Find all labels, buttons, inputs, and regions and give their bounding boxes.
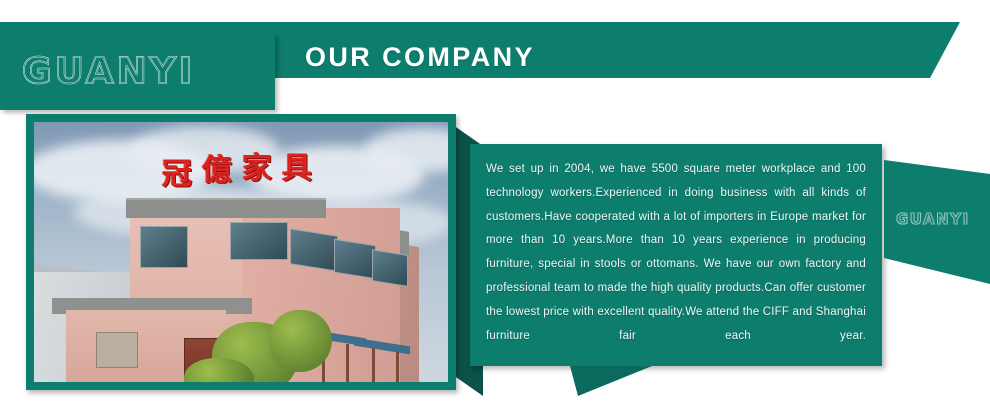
about-paragraph: We set up in 2004, we have 5500 square m… — [486, 158, 866, 372]
about-text-card: We set up in 2004, we have 5500 square m… — [470, 144, 882, 366]
window — [334, 239, 376, 280]
window — [290, 228, 338, 272]
guanyi-logo-wordmark: GUANYI — [22, 54, 195, 90]
roof-sign-char: 億 — [202, 156, 232, 186]
side-brand-tab[interactable]: GUANYI — [884, 160, 990, 284]
company-photo-frame: 冠 億 家 具 — [26, 114, 456, 390]
main-roof-slab — [126, 198, 326, 218]
roof-sign-char: 具 — [282, 154, 312, 184]
header-band: OUR COMPANY GUANYI — [0, 22, 990, 78]
roof-sign-char: 冠 — [162, 160, 192, 190]
rail-post — [346, 344, 349, 382]
window — [230, 222, 288, 260]
page-title: OUR COMPANY — [305, 44, 535, 71]
rail-post — [396, 352, 399, 382]
rail-post — [372, 348, 375, 382]
window — [140, 226, 188, 268]
company-banner: OUR COMPANY GUANYI — [0, 0, 990, 407]
window — [372, 249, 408, 287]
guanyi-side-wordmark: GUANYI — [896, 212, 970, 227]
window — [96, 332, 138, 368]
roof-sign-char: 家 — [242, 154, 272, 184]
card-triangle-tab — [570, 366, 652, 396]
company-photo: 冠 億 家 具 — [34, 122, 448, 382]
logo-block[interactable]: GUANYI — [0, 34, 275, 110]
